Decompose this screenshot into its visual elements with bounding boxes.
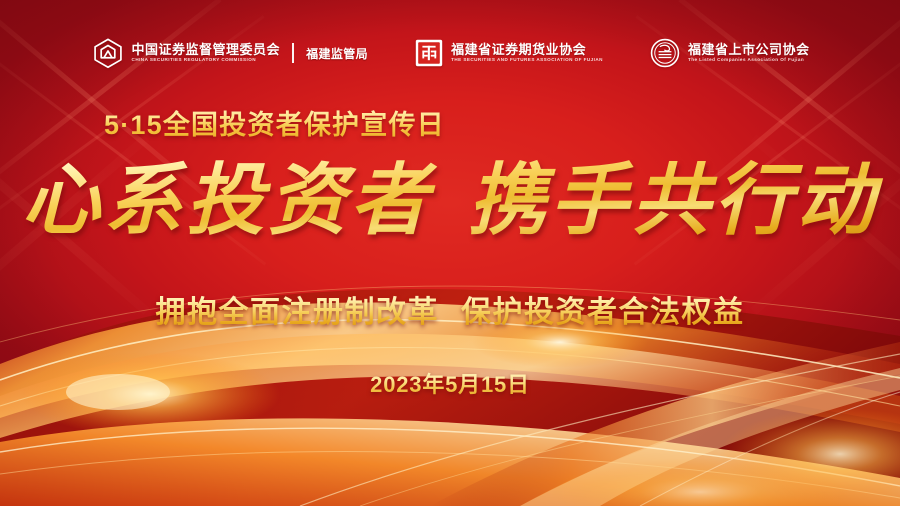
sub-slogan-part2: 保护投资者合法权益 (461, 296, 745, 329)
fujian-listed-companies-seal-icon (649, 37, 681, 69)
fujian-securities-futures-seal-icon (414, 38, 444, 68)
logo-name-cn: 福建省上市公司协会 (688, 43, 810, 57)
logo-text-fujian-listed-companies: 福建省上市公司协会 The Listed Companies Associati… (688, 43, 810, 64)
main-slogan-part1: 心系投资者 (22, 155, 432, 246)
logo-name-en: CHINA SECURITIES REGULATORY COMMISSION (132, 57, 281, 64)
logo-group-fujian-listed-companies: 福建省上市公司协会 The Listed Companies Associati… (649, 37, 810, 69)
csrc-emblem-icon (91, 36, 125, 70)
poster-vignette (0, 0, 900, 506)
logo-group-csrc: 中国证券监督管理委员会 CHINA SECURITIES REGULATORY … (91, 36, 369, 70)
event-date: 2023年5月15日 (0, 367, 900, 399)
sub-slogan-part1: 拥抱全面注册制改革 (156, 296, 440, 329)
logo-group-fujian-securities-futures: 福建省证券期货业协会 THE SECURITIES AND FUTURES AS… (414, 38, 603, 68)
logo-name-en: The Listed Companies Association Of Fuji… (688, 57, 810, 64)
investor-protection-day-poster: 中国证券监督管理委员会 CHINA SECURITIES REGULATORY … (0, 0, 900, 506)
logo-name-cn: 中国证券监督管理委员会 (132, 43, 281, 57)
campaign-eyebrow-text: 5·15全国投资者保护宣传日 (104, 103, 445, 142)
sub-slogan: 拥抱全面注册制改革保护投资者合法权益 (0, 287, 900, 331)
logo-text-fujian-securities-futures: 福建省证券期货业协会 THE SECURITIES AND FUTURES AS… (451, 43, 603, 64)
main-slogan-part2: 携手共行动 (468, 155, 878, 246)
logo-text-csrc: 中国证券监督管理委员会 CHINA SECURITIES REGULATORY … (132, 43, 281, 64)
logo-name-en: THE SECURITIES AND FUTURES ASSOCIATION O… (451, 57, 603, 64)
logo-name-cn: 福建省证券期货业协会 (451, 43, 603, 57)
logo-divider (292, 43, 294, 63)
main-slogan: 心系投资者携手共行动 (0, 157, 900, 246)
organizer-logo-bar: 中国证券监督管理委员会 CHINA SECURITIES REGULATORY … (0, 36, 900, 70)
logo-subname-cn: 福建监管局 (306, 45, 368, 62)
